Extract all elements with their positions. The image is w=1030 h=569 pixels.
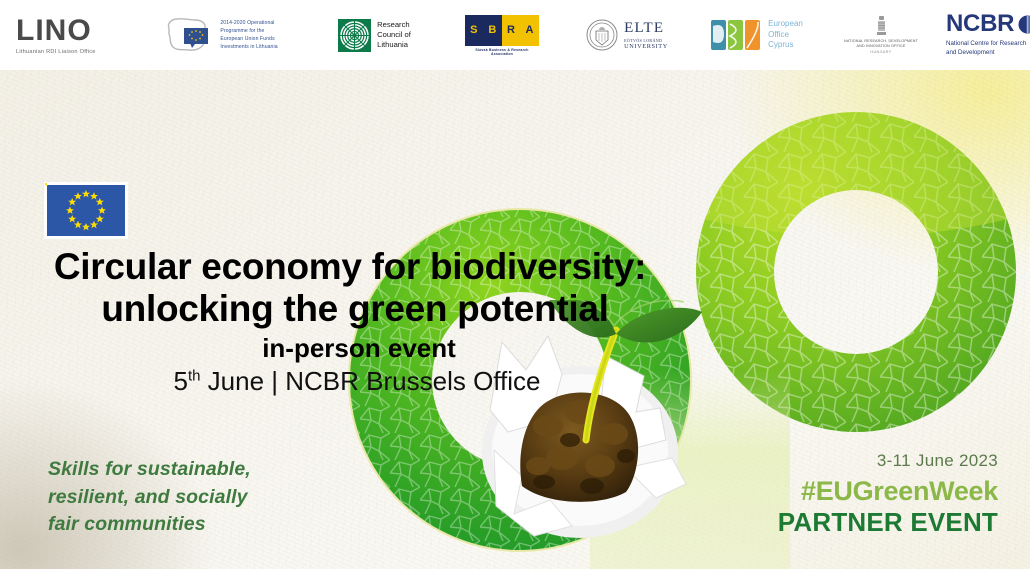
university-seal-icon xyxy=(586,19,618,51)
logo-eu-funds-lithuania[interactable]: 2014-2020 Operational Programme for the … xyxy=(132,0,307,70)
lino-subtitle: Lithuanian RDI Liaison Office xyxy=(16,49,96,55)
partner-event-label: PARTNER EVENT xyxy=(778,508,998,537)
sbra-letter-b: B xyxy=(488,24,496,36)
sbra-letter-r: R xyxy=(507,24,515,36)
lithuania-map-icon xyxy=(161,14,215,56)
eu-funds-caption: 2014-2020 Operational Programme for the … xyxy=(220,19,277,51)
sbra-letter-s: S xyxy=(470,24,478,36)
rcl-line-2: Council of xyxy=(377,30,411,40)
logo-lino[interactable]: LINO Lithuanian RDI Liaison Office xyxy=(0,0,132,70)
logo-ncbr[interactable]: NCBR National Centre for Research and De… xyxy=(946,0,1030,70)
nrdi-line-2: AND INNOVATION OFFICE xyxy=(844,44,918,49)
ncbr-caption: National Centre for Research and Develop… xyxy=(946,40,1026,58)
green-week-hashtag: #EUGreenWeek xyxy=(778,475,998,507)
page-title-line-2: unlocking the green potential xyxy=(0,288,700,330)
event-date-venue: 5th June | NCBR Brussels Office xyxy=(0,366,700,397)
logo-european-office-cyprus[interactable]: European Office Cyprus xyxy=(692,0,822,70)
rcl-line-1: Research xyxy=(377,20,411,30)
eu-flag-icon xyxy=(45,183,127,238)
ncbr-wordmark: NCBR xyxy=(946,12,1014,36)
lino-wordmark: LINO xyxy=(16,16,92,46)
sbra-caption: Slovak Business & Research Association xyxy=(465,46,539,56)
green-week-dates: 3-11 June 2023 xyxy=(778,452,998,471)
eu-funds-line-3: European Union Funds xyxy=(220,35,277,43)
elte-sub-2: UNIVERSITY xyxy=(624,43,668,50)
logo-sbra[interactable]: S B R A Slovak Business & Research Assoc… xyxy=(442,0,562,70)
event-banner: LINO Lithuanian RDI Liaison Office xyxy=(0,0,1030,569)
ncbr-line-2: and Development xyxy=(946,49,1026,58)
title-block: Circular economy for biodiversity: unloc… xyxy=(0,246,700,397)
nrdi-country: HUNGARY xyxy=(870,50,891,54)
event-format-subtitle: in-person event xyxy=(0,333,700,364)
tagline-line-2: resilient, and socially xyxy=(48,484,251,512)
tagline: Skills for sustainable, resilient, and s… xyxy=(48,456,251,539)
sbra-letter-block: S B R A xyxy=(465,15,539,46)
research-council-caption: Research Council of Lithuania xyxy=(377,20,411,50)
eoc-line-1: European xyxy=(768,19,803,30)
rcl-line-3: Lithuania xyxy=(377,40,411,50)
ncbr-line-1: National Centre for Research xyxy=(946,40,1026,49)
partner-logo-bar: LINO Lithuanian RDI Liaison Office xyxy=(0,0,1030,70)
eu-funds-line-1: 2014-2020 Operational xyxy=(220,19,277,27)
logo-research-council-lithuania[interactable]: Research Council of Lithuania xyxy=(307,0,442,70)
poster-body: Circular economy for biodiversity: unloc… xyxy=(0,70,1030,569)
elte-sub-1: EÖTVÖS LORÁND xyxy=(624,38,668,43)
elte-wordmark: ELTE xyxy=(624,21,668,36)
nrdi-emblem-icon xyxy=(875,16,888,36)
european-office-cyprus-caption: European Office Cyprus xyxy=(768,19,803,51)
eoc-line-2: Office xyxy=(768,30,803,41)
nrdi-caption: NATIONAL RESEARCH, DEVELOPMENT AND INNOV… xyxy=(844,39,918,50)
eu-green-week-lockup: 3-11 June 2023 #EUGreenWeek PARTNER EVEN… xyxy=(778,452,998,537)
eoc-line-3: Cyprus xyxy=(768,40,803,51)
sbra-right-half: R A xyxy=(502,15,539,46)
event-day: 5 xyxy=(173,366,187,396)
european-office-cyprus-icon xyxy=(711,18,763,52)
page-title-line-1: Circular economy for biodiversity: xyxy=(0,246,700,288)
eu-funds-line-4: Investments in Lithuania xyxy=(220,43,277,51)
event-venue: June | NCBR Brussels Office xyxy=(200,366,540,396)
logo-elte[interactable]: ELTE EÖTVÖS LORÁND UNIVERSITY xyxy=(562,0,692,70)
tagline-line-1: Skills for sustainable, xyxy=(48,456,251,484)
logo-nrdi-hungary[interactable]: NATIONAL RESEARCH, DEVELOPMENT AND INNOV… xyxy=(822,0,940,70)
eu-funds-line-2: Programme for the xyxy=(220,27,277,35)
ncbr-circle-icon xyxy=(1018,15,1030,34)
event-day-suffix: th xyxy=(188,368,201,385)
rosette-icon xyxy=(338,19,371,52)
tagline-line-3: fair communities xyxy=(48,511,251,539)
sbra-letter-a: A xyxy=(526,24,534,36)
sbra-left-half: S B xyxy=(465,15,502,46)
